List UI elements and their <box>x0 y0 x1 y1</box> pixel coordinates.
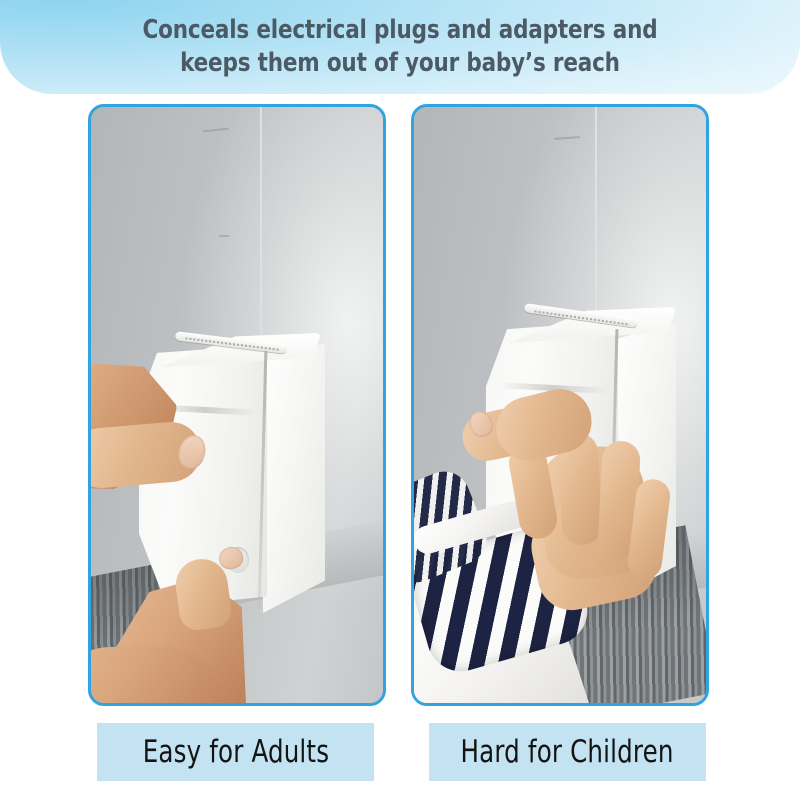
photo-child-pressing-cover <box>414 107 706 703</box>
panel-hard-for-children[interactable] <box>411 104 709 706</box>
header-line-1: Conceals electrical plugs and adapters a… <box>143 14 658 47</box>
caption-easy-for-adults: Easy for Adults <box>97 723 374 781</box>
page-title: Conceals electrical plugs and adapters a… <box>32 0 768 94</box>
header-line-2: keeps them out of your baby’s reach <box>180 47 620 80</box>
caption-text: Hard for Children <box>461 734 674 770</box>
product-wall-plate <box>263 343 325 613</box>
panel-easy-for-adults[interactable] <box>88 104 386 706</box>
wall-scuff <box>219 235 229 237</box>
caption-hard-for-children: Hard for Children <box>429 723 706 781</box>
header-banner: Conceals electrical plugs and adapters a… <box>0 0 800 94</box>
photo-adult-opening-cover <box>91 107 383 703</box>
caption-text: Easy for Adults <box>142 734 328 770</box>
